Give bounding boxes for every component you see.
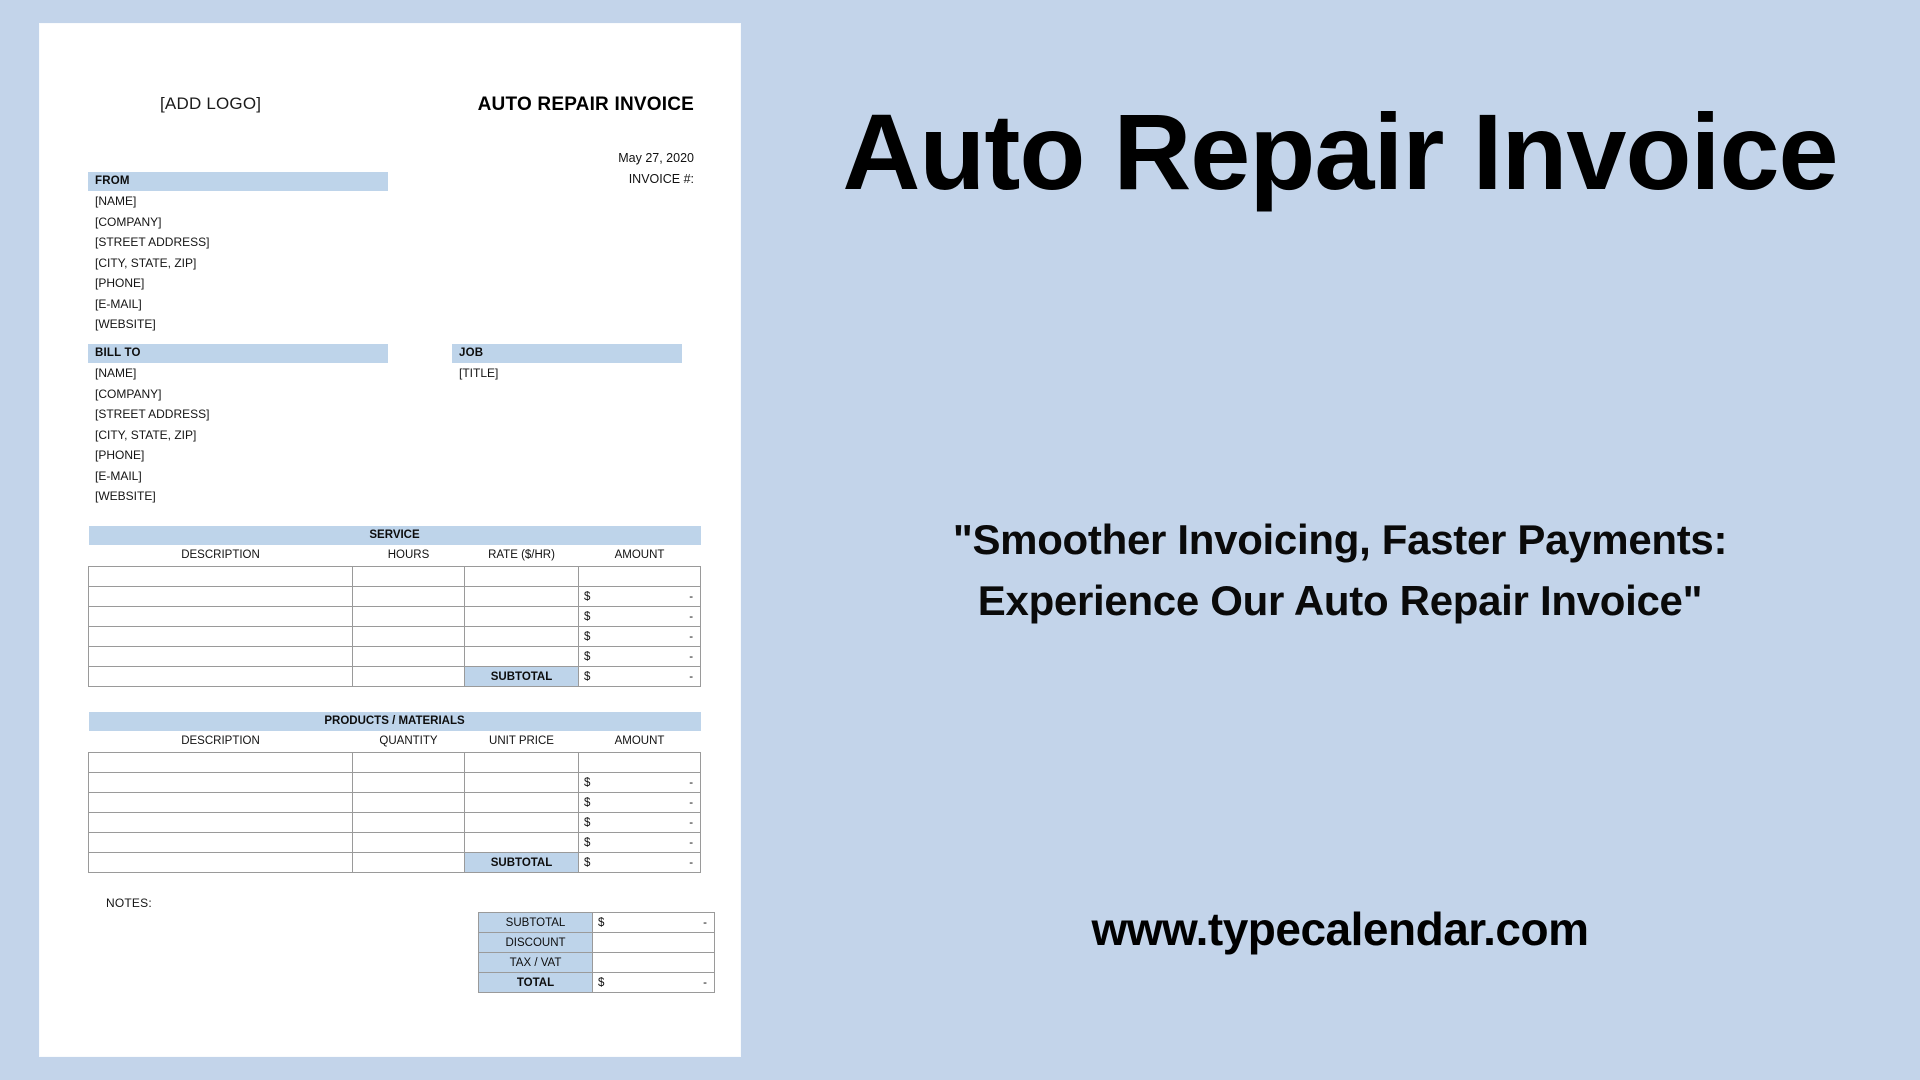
service-table: SERVICE DESCRIPTION HOURS RATE ($/HR) AM…: [88, 526, 701, 687]
totals-label-total: TOTAL: [479, 973, 593, 993]
from-line[interactable]: [CITY, STATE, ZIP]: [88, 253, 388, 274]
service-cell-rate[interactable]: [465, 647, 579, 667]
totals-table: SUBTOTAL $ - DISCOUNT TAX / VAT: [478, 912, 715, 993]
service-col-amount: AMOUNT: [579, 545, 701, 567]
promo-panel: Auto Repair Invoice "Smoother Invoicing,…: [760, 0, 1920, 1080]
table-row[interactable]: [89, 753, 701, 773]
invoice-page: [ADD LOGO] AUTO REPAIR INVOICE May 27, 2…: [40, 24, 740, 1056]
from-block: FROM [NAME] [COMPANY] [STREET ADDRESS] […: [88, 172, 388, 335]
service-cell-amount[interactable]: $ -: [579, 647, 701, 667]
amount-value: -: [703, 917, 707, 929]
currency-symbol: $: [598, 917, 604, 929]
service-subtotal-amount: $ -: [579, 667, 701, 687]
service-cell-description[interactable]: [89, 607, 353, 627]
bill-to-line[interactable]: [COMPANY]: [88, 384, 388, 405]
bill-to-line[interactable]: [E-MAIL]: [88, 466, 388, 487]
currency-symbol: $: [584, 611, 590, 623]
products-section-bar-row: PRODUCTS / MATERIALS: [89, 712, 701, 731]
service-col-description: DESCRIPTION: [89, 545, 353, 567]
promo-tagline-line-2: Experience Our Auto Repair Invoice": [760, 571, 1920, 632]
service-cell-amount[interactable]: $ -: [579, 587, 701, 607]
products-cell-unit-price[interactable]: [465, 793, 579, 813]
products-cell-amount[interactable]: $ -: [579, 813, 701, 833]
spacer-cell: [353, 667, 465, 687]
totals-value-tax[interactable]: [593, 953, 715, 973]
products-cell-quantity[interactable]: [353, 773, 465, 793]
amount-value: -: [703, 977, 707, 989]
totals-row-total: TOTAL $ -: [479, 973, 715, 993]
bill-to-line[interactable]: [CITY, STATE, ZIP]: [88, 425, 388, 446]
invoice-title: AUTO REPAIR INVOICE: [478, 94, 694, 116]
currency-symbol: $: [598, 977, 604, 989]
job-block: JOB [TITLE]: [452, 344, 682, 384]
products-cell-unit-price[interactable]: [465, 833, 579, 853]
spacer-cell: [89, 853, 353, 873]
amount-value: -: [689, 837, 693, 849]
from-line[interactable]: [PHONE]: [88, 273, 388, 294]
currency-symbol: $: [584, 631, 590, 643]
amount-value: -: [689, 797, 693, 809]
spacer-cell: [89, 667, 353, 687]
totals-value-subtotal[interactable]: $ -: [593, 913, 715, 933]
bill-to-line[interactable]: [WEBSITE]: [88, 486, 388, 507]
products-cell-unit-price[interactable]: [465, 773, 579, 793]
service-col-hours: HOURS: [353, 545, 465, 567]
totals-value-total[interactable]: $ -: [593, 973, 715, 993]
service-subtotal-label: SUBTOTAL: [465, 667, 579, 687]
products-cell-quantity[interactable]: [353, 813, 465, 833]
service-cell-rate[interactable]: [465, 627, 579, 647]
products-column-head-row: DESCRIPTION QUANTITY UNIT PRICE AMOUNT: [89, 731, 701, 753]
totals-row-discount: DISCOUNT: [479, 933, 715, 953]
products-cell-quantity[interactable]: [353, 753, 465, 773]
products-cell-quantity[interactable]: [353, 833, 465, 853]
table-row[interactable]: $ -: [89, 773, 701, 793]
currency-symbol: $: [584, 671, 590, 683]
from-line[interactable]: [NAME]: [88, 191, 388, 212]
spacer-cell: [353, 853, 465, 873]
service-cell-hours[interactable]: [353, 627, 465, 647]
from-line[interactable]: [WEBSITE]: [88, 314, 388, 335]
totals-value-discount[interactable]: [593, 933, 715, 953]
products-table-wrap: PRODUCTS / MATERIALS DESCRIPTION QUANTIT…: [88, 712, 698, 873]
table-row[interactable]: $ -: [89, 647, 701, 667]
currency-symbol: $: [584, 797, 590, 809]
amount-value: -: [689, 671, 693, 683]
screenshot-root: [ADD LOGO] AUTO REPAIR INVOICE May 27, 2…: [0, 0, 1920, 1080]
products-cell-description[interactable]: [89, 833, 353, 853]
from-line[interactable]: [STREET ADDRESS]: [88, 232, 388, 253]
bill-to-line[interactable]: [NAME]: [88, 363, 388, 384]
products-cell-description[interactable]: [89, 813, 353, 833]
service-cell-rate[interactable]: [465, 567, 579, 587]
service-cell-hours[interactable]: [353, 647, 465, 667]
amount-value: -: [689, 631, 693, 643]
products-cell-unit-price[interactable]: [465, 813, 579, 833]
table-row[interactable]: $ -: [89, 607, 701, 627]
totals-label-discount: DISCOUNT: [479, 933, 593, 953]
products-col-description: DESCRIPTION: [89, 731, 353, 753]
service-cell-amount[interactable]: [579, 567, 701, 587]
logo-placeholder[interactable]: [ADD LOGO]: [160, 94, 261, 114]
service-section-bar-row: SERVICE: [89, 526, 701, 545]
table-row[interactable]: $ -: [89, 587, 701, 607]
products-col-unit-price: UNIT PRICE: [465, 731, 579, 753]
service-cell-description[interactable]: [89, 567, 353, 587]
notes-label[interactable]: NOTES:: [106, 896, 152, 910]
service-cell-rate[interactable]: [465, 607, 579, 627]
table-row[interactable]: $ -: [89, 833, 701, 853]
totals-label-subtotal: SUBTOTAL: [479, 913, 593, 933]
service-table-wrap: SERVICE DESCRIPTION HOURS RATE ($/HR) AM…: [88, 526, 698, 687]
service-subtotal-row: SUBTOTAL $ -: [89, 667, 701, 687]
bill-to-line[interactable]: [STREET ADDRESS]: [88, 404, 388, 425]
products-cell-amount[interactable]: $ -: [579, 773, 701, 793]
products-section-title: PRODUCTS / MATERIALS: [89, 712, 701, 731]
from-heading: FROM: [88, 172, 388, 191]
products-col-amount: AMOUNT: [579, 731, 701, 753]
service-cell-hours[interactable]: [353, 587, 465, 607]
service-cell-description[interactable]: [89, 627, 353, 647]
promo-title: Auto Repair Invoice: [760, 98, 1920, 206]
promo-website-url[interactable]: www.typecalendar.com: [760, 902, 1920, 956]
promo-tagline: "Smoother Invoicing, Faster Payments: Ex…: [760, 510, 1920, 632]
service-cell-description[interactable]: [89, 647, 353, 667]
products-cell-amount[interactable]: [579, 753, 701, 773]
products-cell-amount[interactable]: $ -: [579, 833, 701, 853]
service-cell-hours[interactable]: [353, 607, 465, 627]
currency-symbol: $: [584, 591, 590, 603]
service-col-rate: RATE ($/HR): [465, 545, 579, 567]
totals-label-tax: TAX / VAT: [479, 953, 593, 973]
table-row[interactable]: $ -: [89, 627, 701, 647]
amount-value: -: [689, 591, 693, 603]
promo-tagline-line-1: "Smoother Invoicing, Faster Payments:: [760, 510, 1920, 571]
products-subtotal-label: SUBTOTAL: [465, 853, 579, 873]
service-cell-amount[interactable]: $ -: [579, 627, 701, 647]
job-heading: JOB: [452, 344, 682, 363]
products-cell-description[interactable]: [89, 793, 353, 813]
products-cell-description[interactable]: [89, 753, 353, 773]
products-cell-unit-price[interactable]: [465, 753, 579, 773]
bill-to-block: BILL TO [NAME] [COMPANY] [STREET ADDRESS…: [88, 344, 388, 507]
service-section-title: SERVICE: [89, 526, 701, 545]
currency-symbol: $: [584, 837, 590, 849]
service-cell-description[interactable]: [89, 587, 353, 607]
from-line[interactable]: [E-MAIL]: [88, 294, 388, 315]
service-column-head-row: DESCRIPTION HOURS RATE ($/HR) AMOUNT: [89, 545, 701, 567]
products-table: PRODUCTS / MATERIALS DESCRIPTION QUANTIT…: [88, 712, 701, 873]
totals-row-tax: TAX / VAT: [479, 953, 715, 973]
amount-value: -: [689, 817, 693, 829]
products-cell-quantity[interactable]: [353, 793, 465, 813]
amount-value: -: [689, 651, 693, 663]
bill-to-line[interactable]: [PHONE]: [88, 445, 388, 466]
from-line[interactable]: [COMPANY]: [88, 212, 388, 233]
products-subtotal-amount: $ -: [579, 853, 701, 873]
table-row[interactable]: $ -: [89, 813, 701, 833]
service-cell-amount[interactable]: $ -: [579, 607, 701, 627]
table-row[interactable]: $ -: [89, 793, 701, 813]
products-cell-description[interactable]: [89, 773, 353, 793]
table-row[interactable]: [89, 567, 701, 587]
job-title-line[interactable]: [TITLE]: [452, 363, 682, 384]
amount-value: -: [689, 611, 693, 623]
currency-symbol: $: [584, 777, 590, 789]
currency-symbol: $: [584, 857, 590, 869]
totals-row-subtotal: SUBTOTAL $ -: [479, 913, 715, 933]
products-subtotal-row: SUBTOTAL $ -: [89, 853, 701, 873]
products-col-quantity: QUANTITY: [353, 731, 465, 753]
service-cell-rate[interactable]: [465, 587, 579, 607]
service-cell-hours[interactable]: [353, 567, 465, 587]
currency-symbol: $: [584, 651, 590, 663]
amount-value: -: [689, 777, 693, 789]
currency-symbol: $: [584, 817, 590, 829]
amount-value: -: [689, 857, 693, 869]
invoice-date[interactable]: May 27, 2020: [88, 148, 694, 169]
products-cell-amount[interactable]: $ -: [579, 793, 701, 813]
bill-to-heading: BILL TO: [88, 344, 388, 363]
